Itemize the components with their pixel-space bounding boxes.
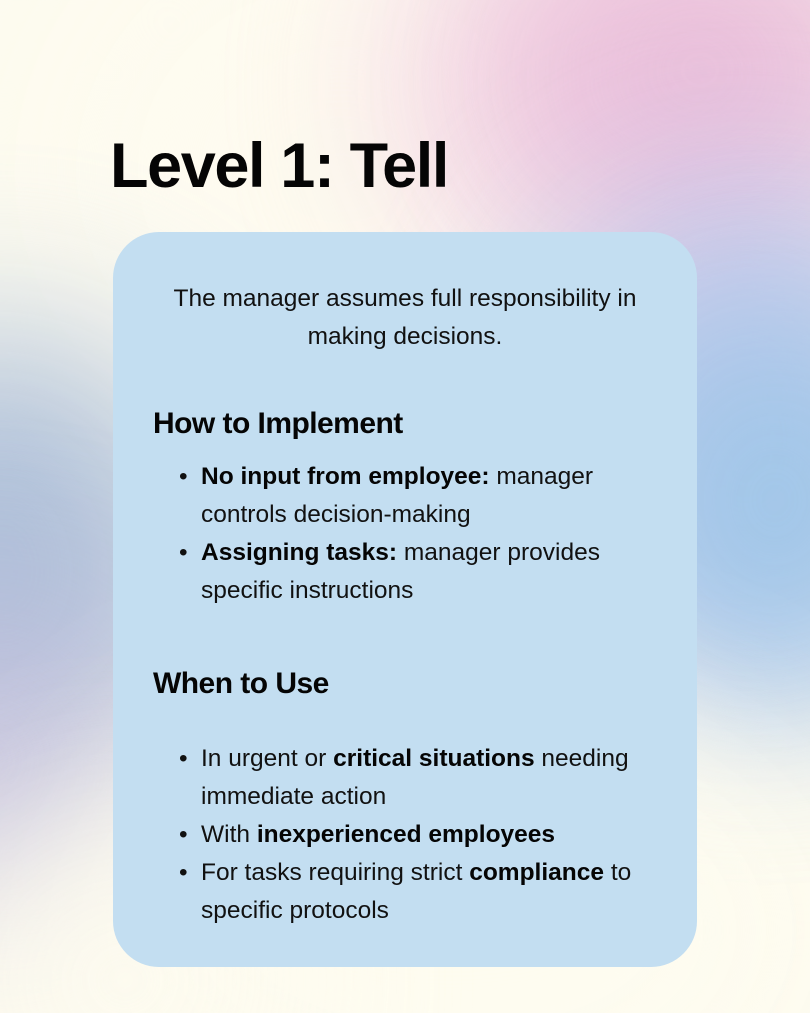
list-item: In urgent or critical situations needing… <box>113 740 697 816</box>
list-item: Assigning tasks: manager provides specif… <box>113 534 697 610</box>
bullet-body: For tasks requiring strict <box>201 859 469 886</box>
bullet-body: In urgent or <box>201 745 333 772</box>
bullet-emphasis: critical situations <box>333 745 535 772</box>
list-item: With inexperienced employees <box>113 816 697 854</box>
card-intro-text: The manager assumes full responsibility … <box>113 232 697 356</box>
bullet-emphasis: inexperienced employees <box>257 821 555 848</box>
section-heading-when-to-use: When to Use <box>113 666 697 702</box>
bullet-lead-in: No input from employee: <box>201 463 490 490</box>
list-item: For tasks requiring strict compliance to… <box>113 854 697 930</box>
infographic-canvas: Level 1: Tell The manager assumes full r… <box>0 0 810 1013</box>
bullet-list-how-to-implement: No input from employee: manager controls… <box>113 458 697 610</box>
info-card: The manager assumes full responsibility … <box>113 232 697 967</box>
section-heading-how-to-implement: How to Implement <box>113 406 697 442</box>
page-title: Level 1: Tell <box>110 132 448 201</box>
background-blob-magenta <box>550 0 810 200</box>
bullet-emphasis: compliance <box>469 859 604 886</box>
bullet-lead-in: Assigning tasks: <box>201 539 397 566</box>
bullet-body: With <box>201 821 257 848</box>
list-item: No input from employee: manager controls… <box>113 458 697 534</box>
bullet-list-when-to-use: In urgent or critical situations needing… <box>113 740 697 930</box>
